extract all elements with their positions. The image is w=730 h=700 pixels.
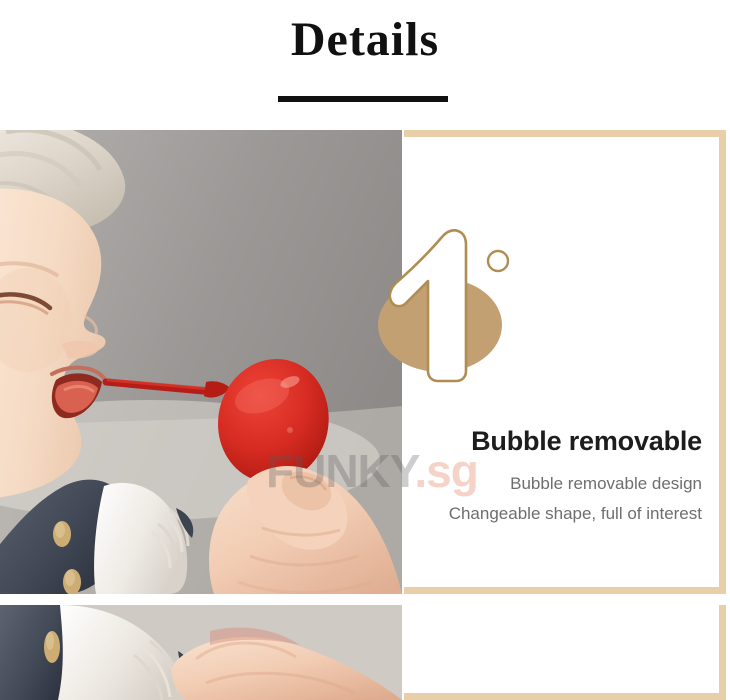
- frame-right-bar-2: [719, 605, 726, 700]
- section-gap: [0, 594, 730, 605]
- frame-left-gap-2: [402, 605, 405, 700]
- frame-right-bar: [719, 130, 726, 594]
- detail-section-1: Bubble removable Bubble removable design…: [0, 130, 730, 594]
- title-underline-rule: [278, 96, 448, 102]
- detail-section-2: [0, 605, 730, 700]
- page-header: Details: [0, 0, 730, 130]
- detail-subline-1b: Changeable shape, full of interest: [402, 505, 702, 524]
- product-photo-1: [0, 130, 402, 594]
- detail-info-panel-2: [402, 605, 730, 700]
- frame-top-bar: [404, 130, 726, 137]
- detail-subline-1a: Bubble removable design: [402, 475, 702, 494]
- page-title: Details: [0, 16, 730, 64]
- frame-bottom-bar: [404, 587, 726, 594]
- detail-info-panel-1: Bubble removable Bubble removable design…: [402, 130, 730, 594]
- detail-headline-1: Bubble removable: [402, 427, 702, 457]
- frame-bottom-bar-2: [404, 693, 726, 700]
- product-photo-2: [0, 605, 402, 700]
- frame-left-gap: [402, 130, 405, 594]
